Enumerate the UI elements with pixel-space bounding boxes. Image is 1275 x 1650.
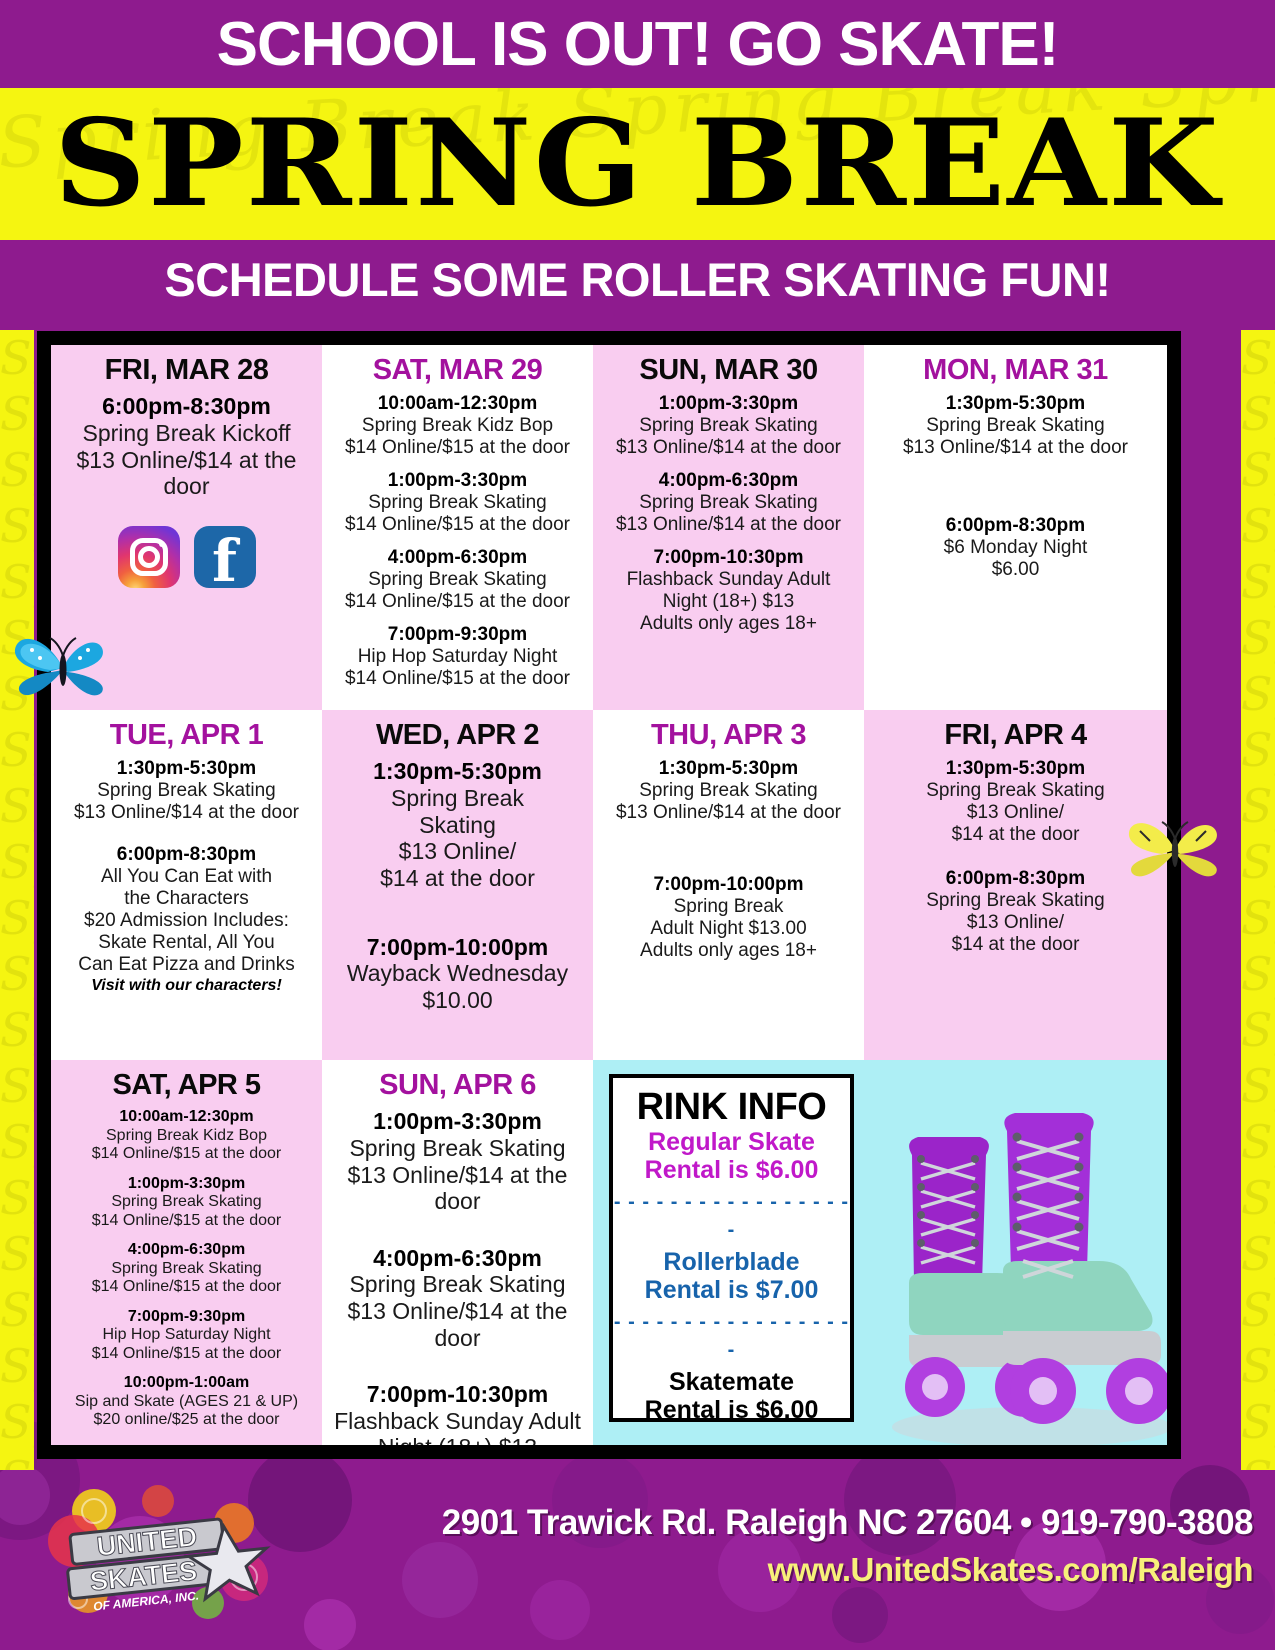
skatemate-rental-line1: Skatemate [613,1368,850,1396]
rink-info-box: RINK INFORegular SkateRental is $6.00- -… [609,1074,854,1422]
yellow-butterfly-icon [1120,795,1230,900]
united-skates-logo: UNITED SKATES OF AMERICA, INC. [48,1481,278,1626]
event-detail: $14 at the door [330,865,585,892]
event-block: 4:00pm-6:30pmSpring Break Skating$14 Onl… [330,547,585,613]
rink-info-title: RINK INFO [613,1088,850,1128]
event-detail: Adults only ages 18+ [601,613,856,635]
event-detail: Skating [330,812,585,839]
event-detail: Hip Hop Saturday Night [330,646,585,668]
event-block: 1:30pm-5:30pmSpring Break Skating$13 Onl… [601,758,856,824]
event-detail: Spring Break Skating [872,415,1159,437]
event-price-note: $13 Online/$14 at the door [330,1162,585,1215]
event-time: 1:00pm-3:30pm [59,1175,314,1193]
event-block: 1:00pm-3:30pmSpring Break Skating$14 Onl… [330,470,585,536]
event-detail: $6.00 [872,559,1159,581]
divider-1: - - - - - - - - - - - - - - - - - - [613,1188,850,1244]
event-detail: $13 Online/$14 at the door [872,437,1159,459]
instagram-icon[interactable] [118,526,180,588]
event-time: 7:00pm-9:30pm [330,624,585,646]
contact-info: 2901 Trawick Rd. Raleigh NC 27604 • 919-… [442,1503,1253,1589]
event-detail: Can Eat Pizza and Drinks [59,954,314,976]
event-time: 7:00pm-10:00pm [601,874,856,896]
schedule-grid: FRI, MAR 286:00pm-8:30pmSpring Break Kic… [51,345,1167,1445]
event-detail: $14 Online/$15 at the door [59,1345,314,1364]
event-time: 1:30pm-5:30pm [872,758,1159,780]
event-block: 6:00pm-8:30pmAll You Can Eat withthe Cha… [59,844,314,995]
event-highlight-note: Visit with our characters! [59,976,314,995]
calendar-day-cell: TUE, APR 11:30pm-5:30pmSpring Break Skat… [51,710,322,1060]
poster-title: SPRING BREAK [54,104,1221,224]
event-block: 7:00pm-10:30pmFlashback Sunday AdultNigh… [330,1381,585,1445]
event-time: 1:30pm-5:30pm [601,758,856,780]
address-line: 2901 Trawick Rd. Raleigh NC 27604 • 919-… [442,1503,1253,1543]
event-block: 7:00pm-10:00pmSpring BreakAdult Night $1… [601,874,856,962]
event-block: 1:30pm-5:30pmSpring Break Skating$13 Onl… [872,393,1159,459]
event-detail: $13 Online/$14 at the door [59,802,314,824]
event-detail: Hip Hop Saturday Night [59,1326,314,1345]
event-detail: $13 Online/$14 at the door [601,437,856,459]
event-detail: Spring Break Kidz Bop [59,1127,314,1146]
header-bottom-banner: SCHEDULE SOME ROLLER SKATING FUN! [0,240,1275,321]
event-block: 4:00pm-6:30pmSpring Break Skating$13 Onl… [330,1245,585,1351]
event-detail: Spring Break Kickoff [59,420,314,447]
header-title-banner: Spring Break Spring Break Spring Break S… [0,88,1275,240]
calendar-day-cell: SUN, MAR 301:00pm-3:30pmSpring Break Ska… [593,345,864,710]
event-time: 6:00pm-8:30pm [59,844,314,866]
event-block: 1:30pm-5:30pmSpring Break Skating$13 Onl… [59,758,314,824]
event-time: 6:00pm-8:30pm [872,868,1159,890]
event-detail: $13 Online/$14 at the door [601,514,856,536]
event-price-note: $13 Online/$14 at the door [330,1298,585,1351]
event-block: 6:00pm-8:30pmSpring Break Skating$13 Onl… [872,868,1159,956]
event-detail: Spring Break [330,785,585,812]
day-title: THU, APR 3 [601,720,856,750]
event-time: 6:00pm-8:30pm [872,515,1159,537]
event-detail: Night (18+) $13 [601,591,856,613]
event-block: 7:00pm-9:30pmHip Hop Saturday Night$14 O… [59,1308,314,1363]
event-time: 4:00pm-6:30pm [330,1245,585,1271]
rollerblade-rental-line2: Rental is $7.00 [613,1276,850,1304]
event-block: 6:00pm-8:30pmSpring Break Kickoff$13 Onl… [59,393,314,499]
day-title: SAT, APR 5 [59,1070,314,1100]
roller-skates-image [857,1060,1167,1445]
event-detail: $14 Online/$15 at the door [59,1145,314,1164]
event-block: 1:30pm-5:30pmSpring Break Skating$13 Onl… [872,758,1159,846]
event-detail: $6 Monday Night [872,537,1159,559]
event-block: 7:00pm-9:30pmHip Hop Saturday Night$14 O… [330,624,585,690]
event-detail: Spring Break Skating [872,890,1159,912]
rollerblade-rental-line1: Rollerblade [613,1248,850,1276]
day-title: WED, APR 2 [330,720,585,750]
website-link[interactable]: www.UnitedSkates.com/Raleigh [442,1551,1253,1589]
event-detail: $14 Online/$15 at the door [59,1278,314,1297]
calendar-day-cell: SAT, MAR 2910:00am-12:30pmSpring Break K… [322,345,593,710]
calendar-day-cell: SAT, APR 510:00am-12:30pmSpring Break Ki… [51,1060,322,1445]
event-time: 4:00pm-6:30pm [330,547,585,569]
event-detail: $14 at the door [872,934,1159,956]
social-links: f [59,526,314,588]
header-top-banner: SCHOOL IS OUT! GO SKATE! [0,0,1275,88]
event-detail: $20 online/$25 at the door [59,1411,314,1430]
regular-skate-rental-line1: Regular Skate [613,1128,850,1156]
day-title: MON, MAR 31 [872,355,1159,385]
event-time: 7:00pm-10:30pm [330,1381,585,1407]
event-time: 7:00pm-10:00pm [330,934,585,960]
event-detail: All You Can Eat with [59,866,314,888]
event-detail: Spring Break Skating [59,780,314,802]
event-detail: Spring Break Skating [872,780,1159,802]
event-detail: Night (18+) $13 [330,1434,585,1445]
event-block: 7:00pm-10:30pmFlashback Sunday AdultNigh… [601,547,856,635]
day-title: SAT, MAR 29 [330,355,585,385]
event-detail: $14 Online/$15 at the door [330,514,585,536]
calendar-day-cell: MON, MAR 311:30pm-5:30pmSpring Break Ska… [864,345,1167,710]
event-detail: Sip and Skate (AGES 21 & UP) [59,1393,314,1412]
event-block: 1:00pm-3:30pmSpring Break Skating$14 Onl… [59,1175,314,1230]
skatemate-rental-line2: Rental is $6.00 [613,1396,850,1424]
event-time: 10:00am-12:30pm [330,393,585,415]
event-detail: Flashback Sunday Adult [601,569,856,591]
divider-2: - - - - - - - - - - - - - - - - - - [613,1308,850,1364]
event-detail: $20 Admission Includes: [59,910,314,932]
poster-header: SCHOOL IS OUT! GO SKATE! Spring Break Sp… [0,0,1275,321]
event-block: 6:00pm-8:30pm$6 Monday Night$6.00 [872,515,1159,581]
event-detail: Adult Night $13.00 [601,918,856,940]
day-title: SUN, APR 6 [330,1070,585,1100]
event-time: 1:00pm-3:30pm [601,393,856,415]
event-block: 1:00pm-3:30pmSpring Break Skating$13 Onl… [601,393,856,459]
event-detail: Spring Break Skating [330,1135,585,1162]
day-title: FRI, APR 4 [872,720,1159,750]
event-detail: $13 Online/$14 at the door [59,447,314,500]
header-tagline-top: SCHOOL IS OUT! GO SKATE! [0,14,1275,76]
event-detail: Spring Break Skating [330,1271,585,1298]
event-time: 1:00pm-3:30pm [330,470,585,492]
event-block: 10:00am-12:30pmSpring Break Kidz Bop$14 … [59,1108,314,1163]
event-time: 10:00am-12:30pm [59,1108,314,1126]
day-title: FRI, MAR 28 [59,355,314,385]
event-detail: Spring Break Kidz Bop [330,415,585,437]
event-time: 1:30pm-5:30pm [872,393,1159,415]
calendar-day-cell: WED, APR 21:30pm-5:30pmSpring BreakSkati… [322,710,593,1060]
event-time: 7:00pm-9:30pm [59,1308,314,1326]
day-title: TUE, APR 1 [59,720,314,750]
blue-butterfly-icon [8,610,118,720]
event-detail: $13 Online/ [330,838,585,865]
event-block: 4:00pm-6:30pmSpring Break Skating$14 Onl… [59,1241,314,1296]
regular-skate-rental-line2: Rental is $6.00 [613,1156,850,1184]
event-block: 4:00pm-6:30pmSpring Break Skating$13 Onl… [601,470,856,536]
event-detail: Spring Break Skating [601,415,856,437]
rink-info-cell: RINK INFORegular SkateRental is $6.00- -… [593,1060,1167,1445]
event-detail: $14 Online/$15 at the door [59,1212,314,1231]
day-title: SUN, MAR 30 [601,355,856,385]
event-detail: Spring Break Skating [330,492,585,514]
event-detail: Spring Break Skating [601,492,856,514]
event-detail: Spring Break Skating [59,1193,314,1212]
event-detail: $14 Online/$15 at the door [330,437,585,459]
event-time: 4:00pm-6:30pm [601,470,856,492]
event-time: 1:00pm-3:30pm [330,1108,585,1134]
event-detail: $14 Online/$15 at the door [330,591,585,613]
event-detail: Spring Break Skating [59,1260,314,1279]
event-detail: $14 at the door [872,824,1159,846]
event-block: 1:30pm-5:30pmSpring BreakSkating$13 Onli… [330,758,585,891]
event-detail: $14 Online/$15 at the door [330,668,585,690]
event-detail: $13 Online/ [872,912,1159,934]
event-detail: Spring Break Skating [330,569,585,591]
event-detail: $13 Online/$14 at the door [601,802,856,824]
event-detail: Skate Rental, All You [59,932,314,954]
event-time: 1:30pm-5:30pm [59,758,314,780]
poster-footer: UNITED SKATES OF AMERICA, INC. 2901 Traw… [0,1459,1275,1650]
event-time: 7:00pm-10:30pm [601,547,856,569]
event-detail: Spring Break [601,896,856,918]
left-yellow-strip: SpringSpringSpringSpringSpringSpringSpri… [0,330,34,1470]
event-detail: $10.00 [330,987,585,1014]
facebook-icon[interactable]: f [194,526,256,588]
event-time: 10:00pm-1:00am [59,1374,314,1392]
event-detail: Wayback Wednesday [330,960,585,987]
event-block: 7:00pm-10:00pmWayback Wednesday$10.00 [330,934,585,1014]
event-time: 4:00pm-6:30pm [59,1241,314,1259]
event-time: 1:30pm-5:30pm [330,758,585,784]
event-block: 10:00pm-1:00amSip and Skate (AGES 21 & U… [59,1374,314,1429]
schedule-calendar-frame: FRI, MAR 286:00pm-8:30pmSpring Break Kic… [37,331,1181,1459]
event-block: 10:00am-12:30pmSpring Break Kidz Bop$14 … [330,393,585,459]
event-detail: Adults only ages 18+ [601,940,856,962]
event-time: 6:00pm-8:30pm [59,393,314,419]
calendar-day-cell: SUN, APR 61:00pm-3:30pmSpring Break Skat… [322,1060,593,1445]
event-detail: the Characters [59,888,314,910]
event-detail: Flashback Sunday Adult [330,1408,585,1435]
event-detail: Spring Break Skating [601,780,856,802]
calendar-day-cell: THU, APR 31:30pm-5:30pmSpring Break Skat… [593,710,864,1060]
event-block: 1:00pm-3:30pmSpring Break Skating$13 Onl… [330,1108,585,1214]
event-detail: $13 Online/ [872,802,1159,824]
right-yellow-strip: SpringSpringSpringSpringSpringSpringSpri… [1241,330,1275,1470]
header-tagline-bottom: SCHEDULE SOME ROLLER SKATING FUN! [0,256,1275,303]
